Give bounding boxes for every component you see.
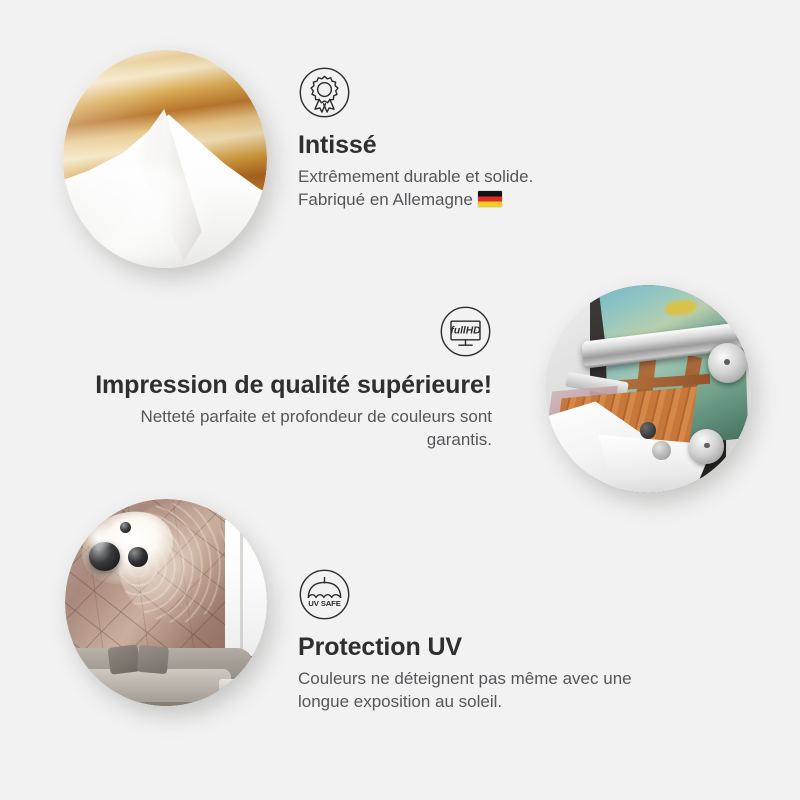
interior-lamp-ball-small <box>120 522 131 533</box>
german-flag-icon <box>478 191 502 207</box>
photo-inner <box>545 285 751 493</box>
feature-title-uv: Protection UV <box>298 633 680 663</box>
feature-title-nonwoven: Intissé <box>298 131 598 161</box>
feature-desc-line1: Netteté parfaite et profondeur de couleu… <box>140 407 492 426</box>
feature-desc-line1: Couleurs ne déteignent pas même avec une <box>298 669 632 688</box>
press-knob-dark <box>640 422 656 439</box>
fullhd-icon-label: fullHD <box>450 325 481 336</box>
feature-desc-line2: Fabriqué en Allemagne <box>298 190 473 209</box>
feature-desc-line2-wrap: Fabriqué en Allemagne <box>298 190 502 209</box>
interior-light-flare <box>83 520 115 553</box>
press-wheel-lower <box>689 429 724 464</box>
feature-desc-uv: Couleurs ne déteignent pas même avec une… <box>298 667 680 714</box>
interior-sofa-seat <box>69 669 231 702</box>
photo-inner <box>65 499 267 706</box>
uv-safe-umbrella-icon-wrap: UV SAFE <box>298 568 680 621</box>
interior-side-table <box>219 679 247 698</box>
interior-lamp-ball-medium <box>128 547 148 568</box>
interior-cushion-left <box>108 644 141 674</box>
feature-block-nonwoven: Intissé Extrêmement durable et solide. F… <box>298 66 598 212</box>
press-knob-light <box>652 441 671 460</box>
fullhd-monitor-icon: fullHD <box>439 305 492 358</box>
photo-inner <box>63 50 267 268</box>
feature-block-printing: fullHD Impression de qualité supérieure!… <box>80 305 492 452</box>
peel-sheen <box>67 163 210 263</box>
feature-panel: Intissé Extrêmement durable et solide. F… <box>0 0 800 800</box>
living-room-geometric-wallpaper-photo <box>65 499 267 706</box>
feature-desc-printing: Netteté parfaite et profondeur de couleu… <box>80 405 492 452</box>
interior-cushion-right <box>137 645 170 674</box>
uv-safe-icon-label: UV SAFE <box>308 599 341 608</box>
press-wheel-upper <box>708 343 747 383</box>
feature-title-printing: Impression de qualité supérieure! <box>80 371 492 401</box>
feature-desc-nonwoven: Extrêmement durable et solide. Fabriqué … <box>298 165 598 212</box>
fullhd-monitor-icon-wrap: fullHD <box>80 305 492 358</box>
feature-desc-line2: garantis. <box>427 430 492 449</box>
uv-safe-umbrella-icon: UV SAFE <box>298 568 351 621</box>
feature-block-uv: UV SAFE Protection UV Couleurs ne déteig… <box>298 568 680 714</box>
interior-window <box>225 520 267 657</box>
award-ribbon-icon <box>298 66 351 119</box>
feature-desc-line2: longue exposition au soleil. <box>298 692 502 711</box>
printing-press-photo <box>545 285 751 493</box>
peeling-wallpaper-corner-photo <box>63 50 267 268</box>
feature-desc-line1: Extrêmement durable et solide. <box>298 167 533 186</box>
award-ribbon-icon-wrap <box>298 66 598 119</box>
